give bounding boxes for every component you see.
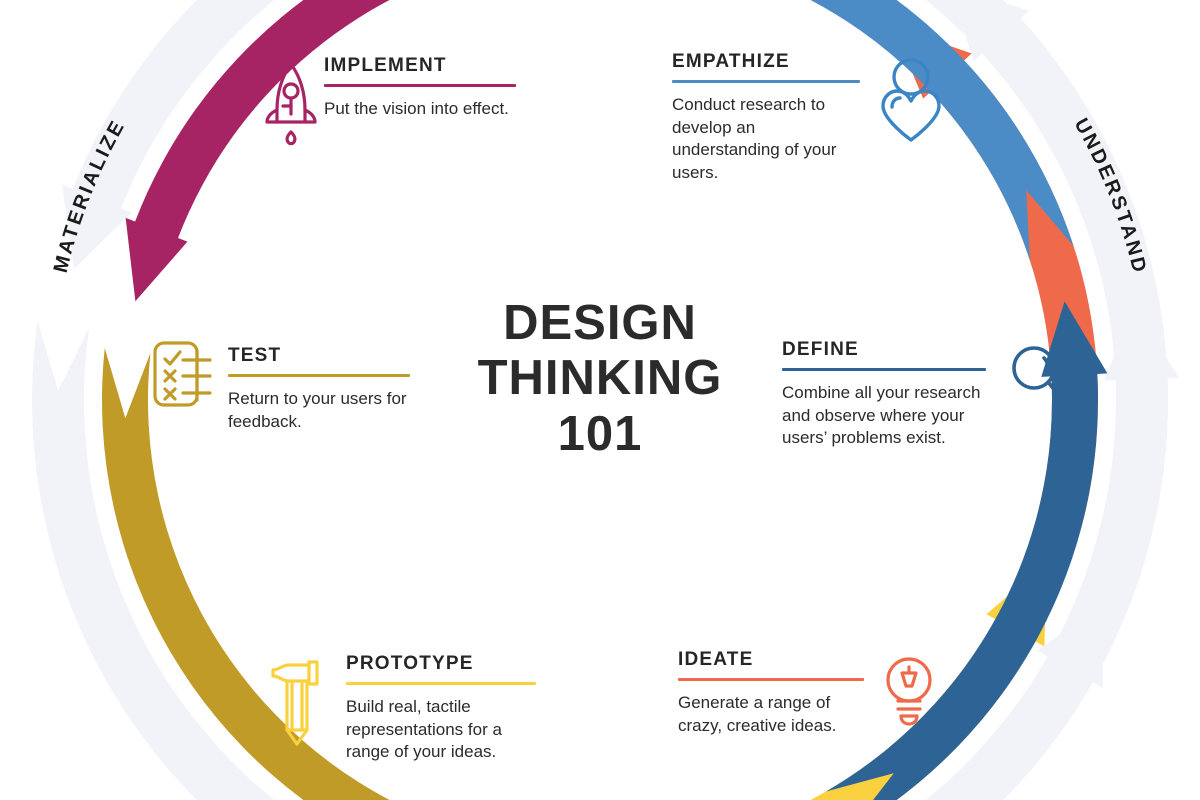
page-title: DESIGN THINKING 101	[430, 296, 770, 462]
phase-implement-title: IMPLEMENT	[324, 56, 544, 75]
phase-define-title: DEFINE	[782, 340, 1004, 359]
phase-ideate-title: IDEATE	[678, 650, 874, 669]
phase-empathize-rule	[672, 80, 860, 83]
phase-implement-rule	[324, 84, 516, 87]
design-thinking-infographic: MATERIALIZE UNDERSTAND DESIGN THINKING 1…	[0, 0, 1200, 800]
phase-test-title: TEST	[228, 346, 428, 365]
lightbulb-icon	[874, 650, 944, 728]
phase-ideate-desc: Generate a range of crazy, creative idea…	[678, 692, 860, 737]
rocket-icon	[258, 50, 324, 150]
magnifier-icon	[1004, 340, 1076, 414]
phase-prototype-rule	[346, 682, 536, 685]
phase-define-rule	[782, 368, 986, 371]
hammer-pencil-icon	[250, 648, 346, 750]
phase-test-desc: Return to your users for feedback.	[228, 388, 418, 433]
phase-empathize-title: EMPATHIZE	[672, 52, 868, 71]
person-heart-icon	[868, 52, 954, 142]
phase-empathize-desc: Conduct research to develop an understan…	[672, 94, 842, 184]
phase-test[interactable]: TEST Return to your users for feedback.	[142, 336, 428, 433]
phase-empathize[interactable]: EMPATHIZE Conduct research to develop an…	[672, 52, 954, 184]
phase-prototype[interactable]: PROTOTYPE Build real, tactile representa…	[250, 648, 558, 764]
page-title-line-1: DESIGN	[430, 296, 770, 351]
page-title-line-2: THINKING	[430, 351, 770, 406]
page-title-line-3: 101	[430, 407, 770, 462]
phase-test-rule	[228, 374, 410, 377]
phase-implement-desc: Put the vision into effect.	[324, 98, 544, 121]
phase-prototype-title: PROTOTYPE	[346, 654, 558, 673]
phase-prototype-desc: Build real, tactile representations for …	[346, 696, 538, 764]
checklist-icon	[142, 336, 228, 410]
phase-ideate[interactable]: IDEATE Generate a range of crazy, creati…	[678, 650, 944, 737]
phase-implement[interactable]: IMPLEMENT Put the vision into effect.	[258, 50, 544, 150]
phase-ideate-rule	[678, 678, 864, 681]
phase-define[interactable]: DEFINE Combine all your research and obs…	[782, 340, 1076, 450]
phase-define-desc: Combine all your research and observe wh…	[782, 382, 1000, 450]
